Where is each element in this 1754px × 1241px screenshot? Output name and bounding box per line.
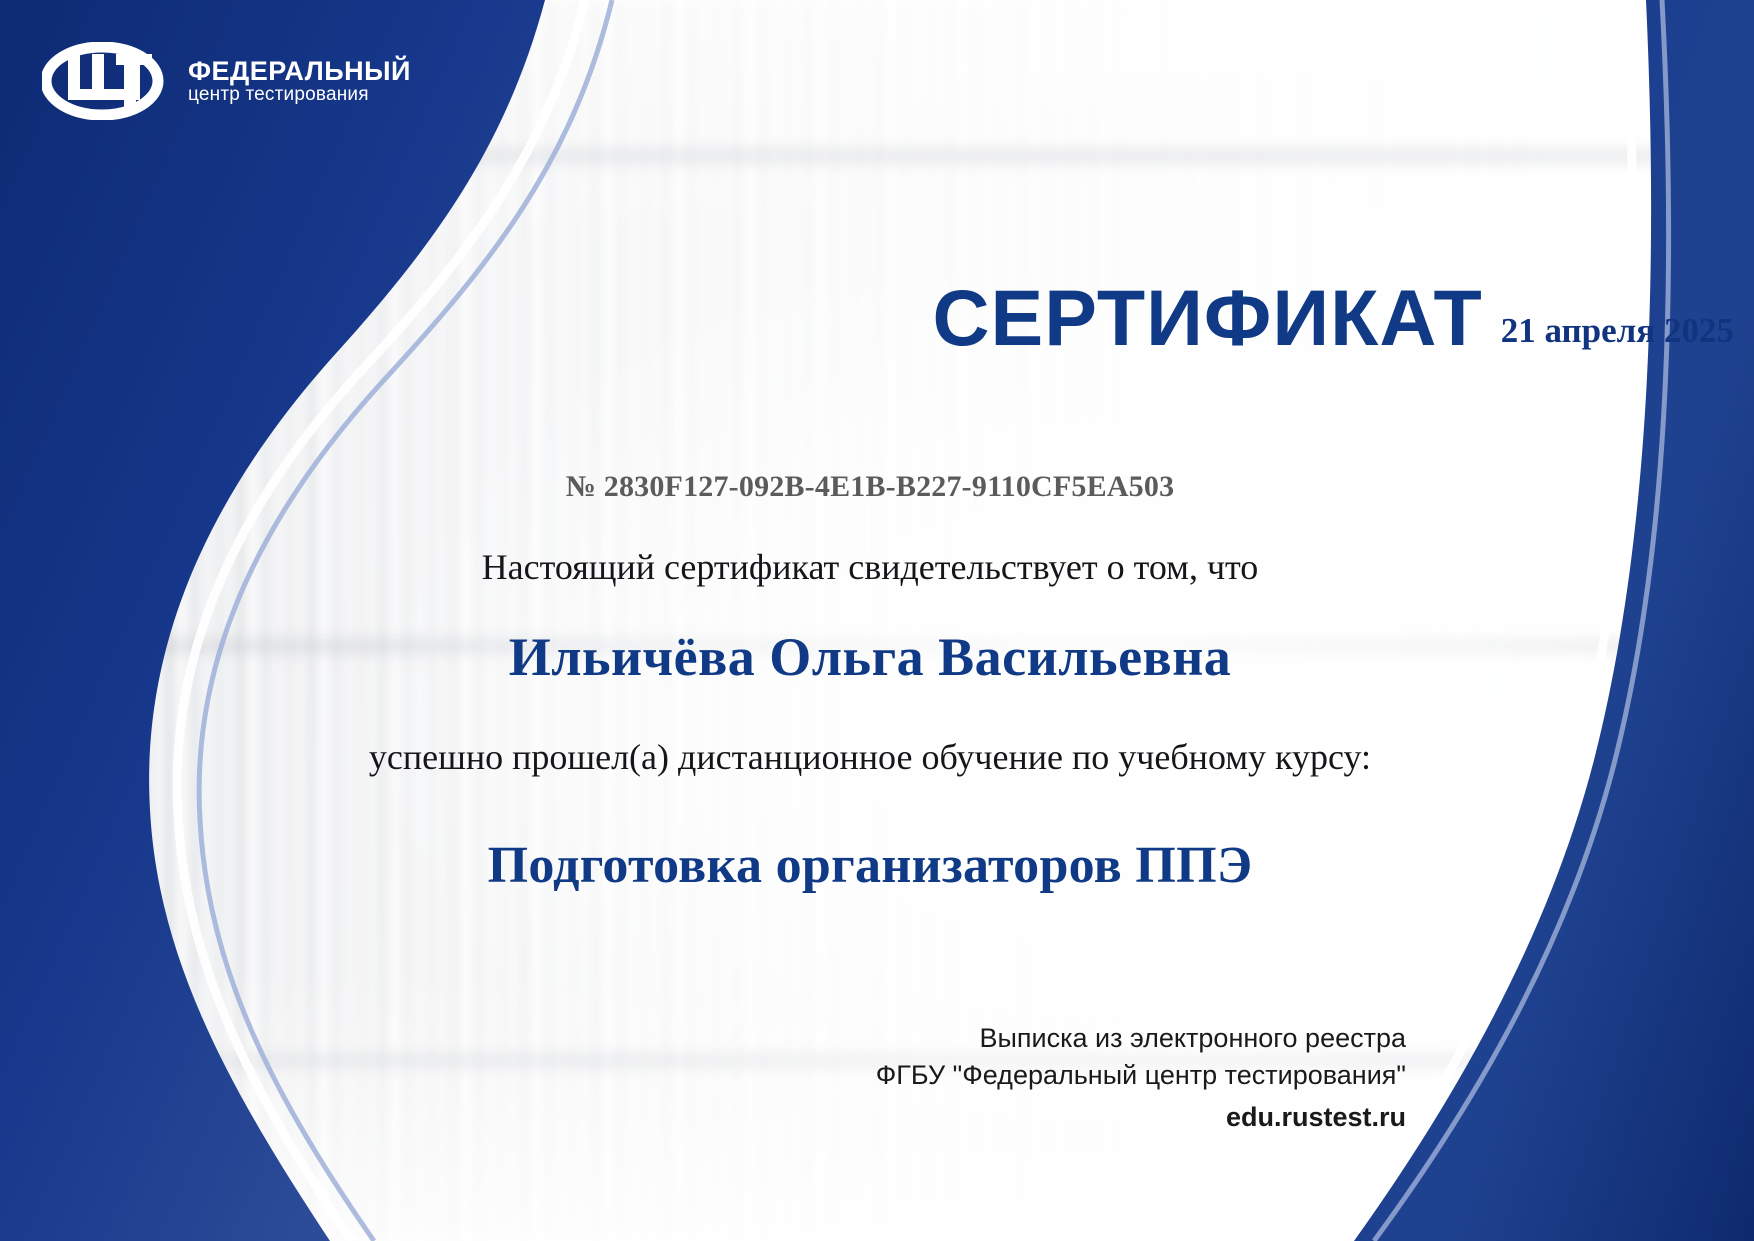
course-intro-line: успешно прошел(а) дистанционное обучение… [310, 736, 1430, 778]
footer-line-1: Выписка из электронного реестра [876, 1020, 1406, 1057]
course-name: Подготовка организаторов ППЭ [310, 836, 1430, 895]
recipient-name: Ильичёва Ольга Васильевна [310, 626, 1430, 688]
fct-monogram-icon [42, 42, 172, 120]
certificate-number: № 2830F127-092B-4E1B-B227-9110CF5EA503 [310, 470, 1430, 504]
logo-line-2: центр тестирования [188, 84, 369, 105]
logo-line-1: ФЕДЕРАЛЬНЫЙ [188, 56, 411, 86]
certificate-body: № 2830F127-092B-4E1B-B227-9110CF5EA503 Н… [310, 470, 1430, 895]
title-row: СЕРТИФИКАТ 21 апреля 2025 [640, 278, 1734, 357]
registry-footer: Выписка из электронного реестра ФГБУ "Фе… [876, 1020, 1406, 1136]
logo-wordmark: ФЕДЕРАЛЬНЫЙ центр тестирования [188, 58, 411, 104]
intro-line: Настоящий сертификат свидетельствует о т… [310, 546, 1430, 588]
certificate-page: ФЕДЕРАЛЬНЫЙ центр тестирования СЕРТИФИКА… [0, 0, 1754, 1241]
footer-line-2: ФГБУ "Федеральный центр тестирования" [876, 1057, 1406, 1094]
organization-logo: ФЕДЕРАЛЬНЫЙ центр тестирования [42, 42, 411, 120]
issue-date: 21 апреля 2025 [1501, 311, 1734, 357]
page-title: СЕРТИФИКАТ [932, 278, 1482, 357]
registry-website: edu.rustest.ru [876, 1099, 1406, 1136]
